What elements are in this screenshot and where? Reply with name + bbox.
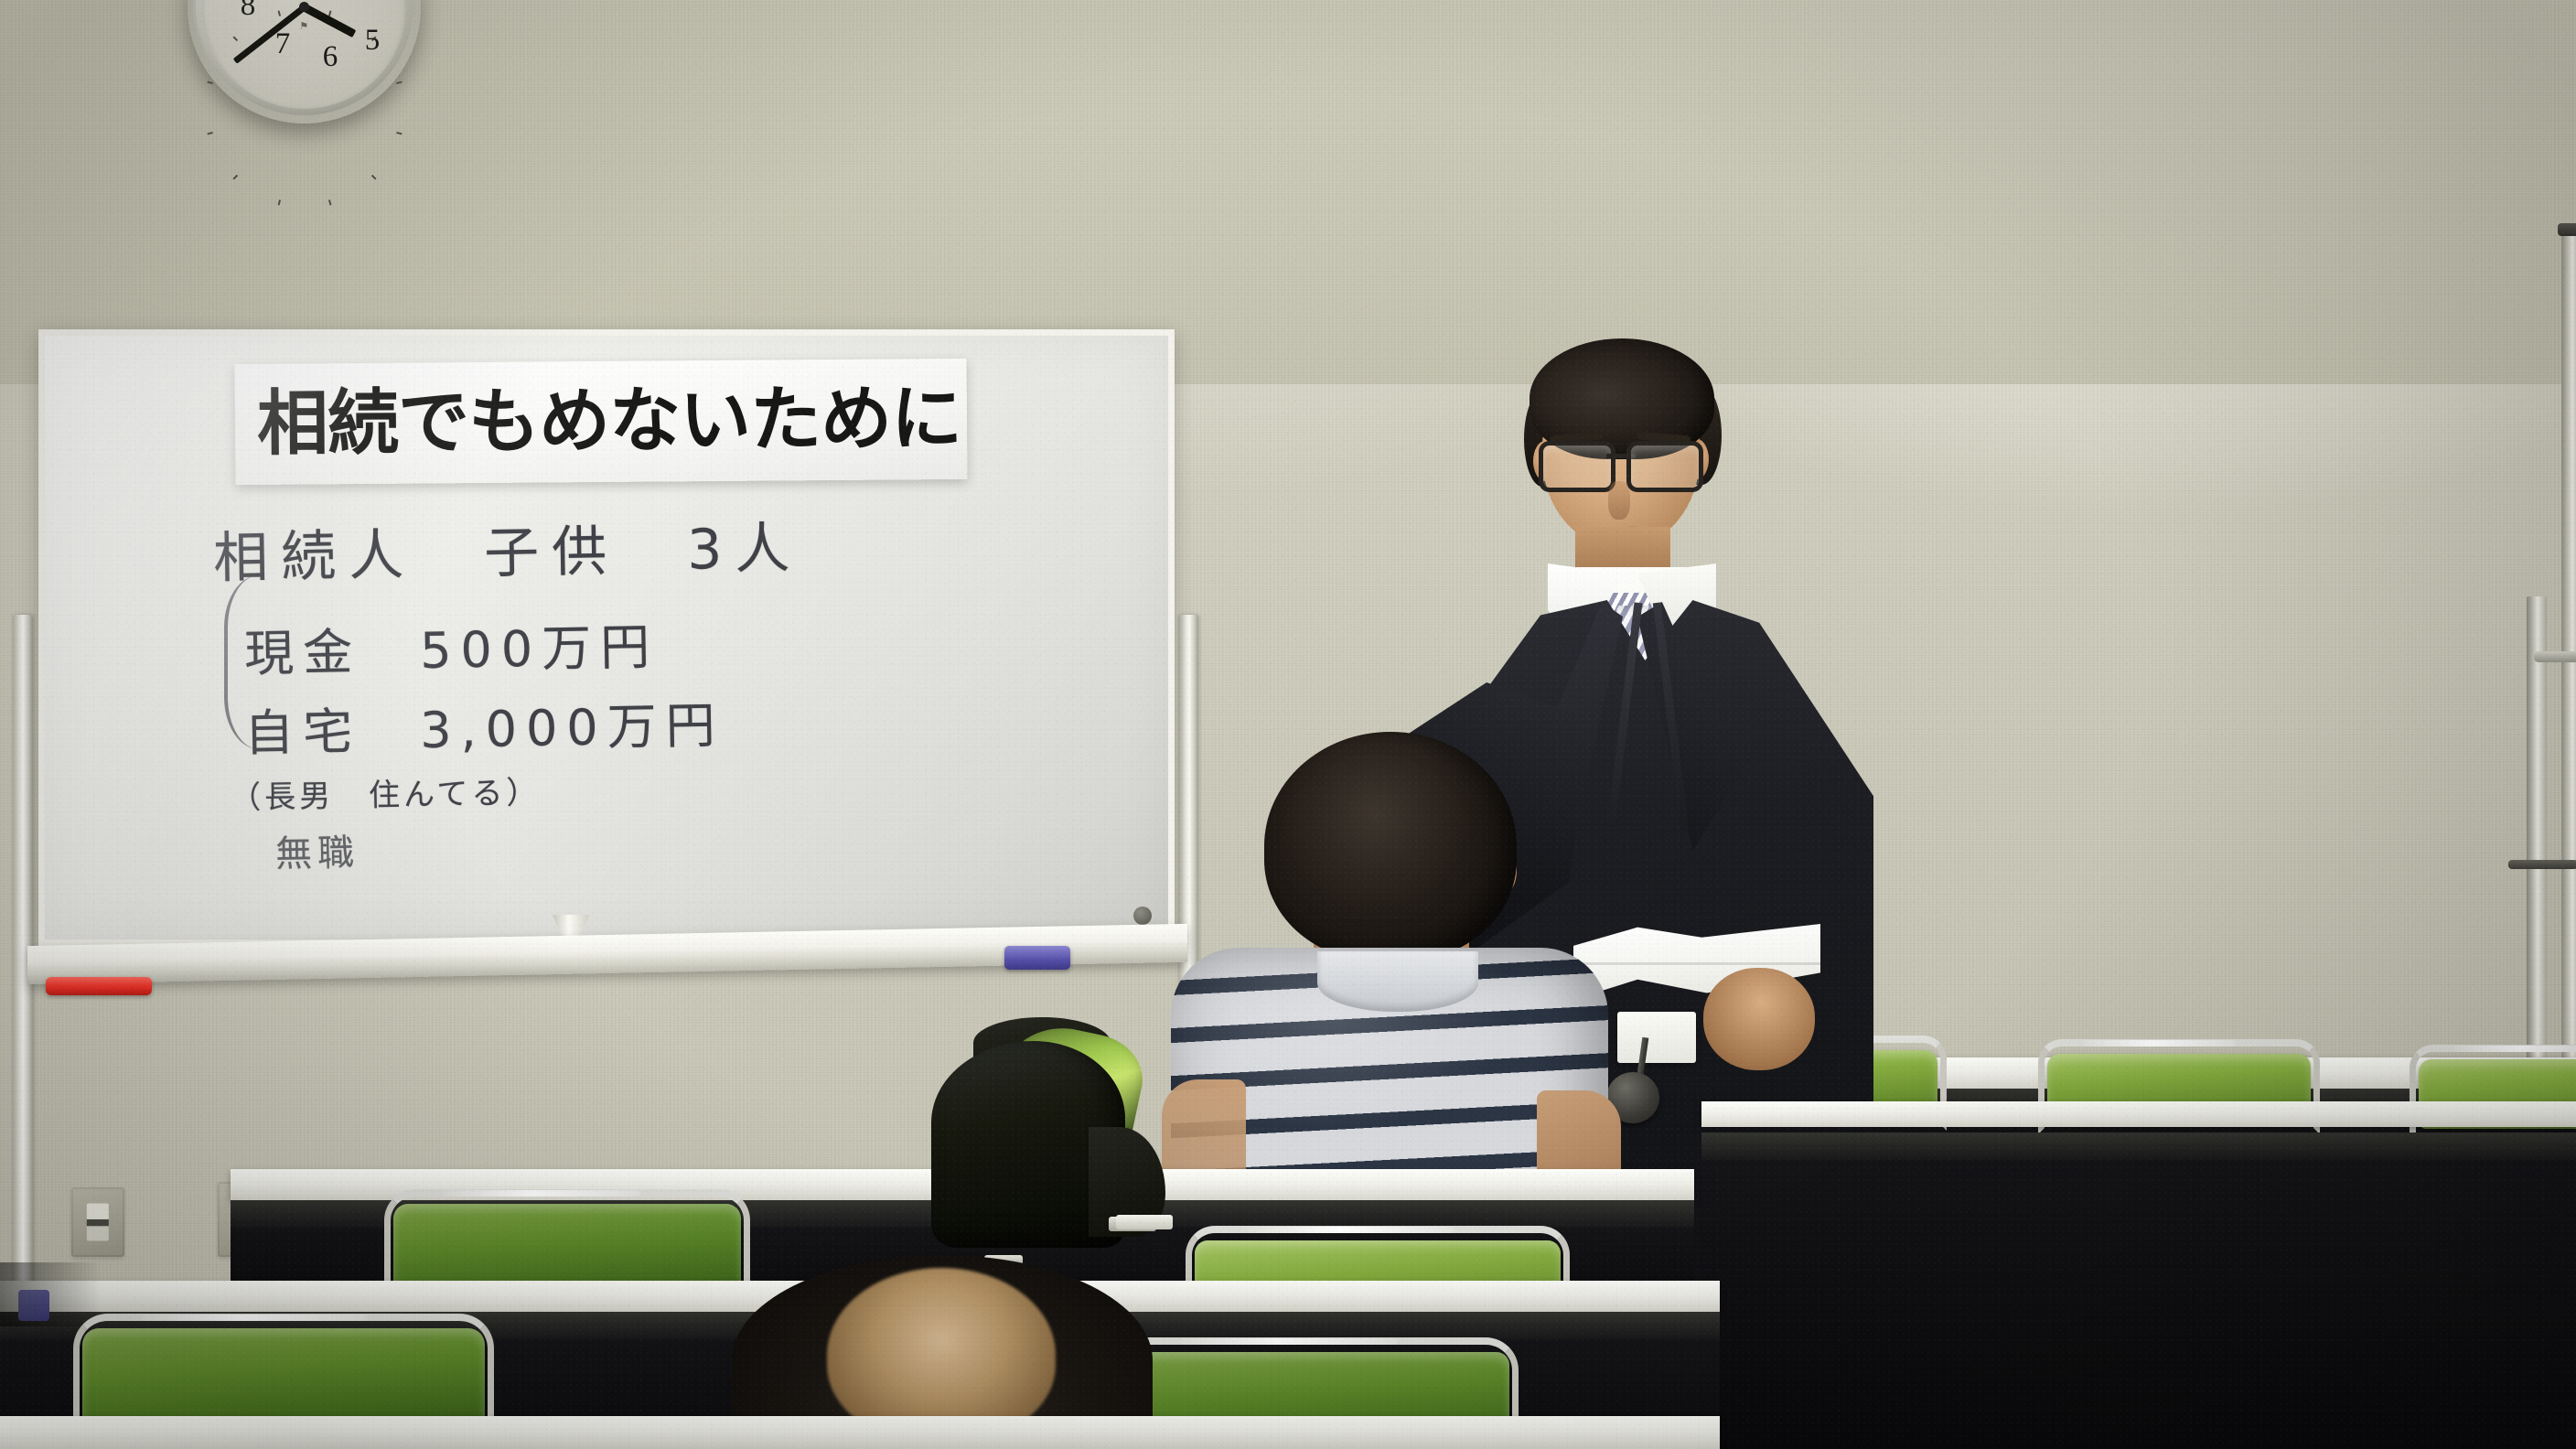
marker-red[interactable] [46, 977, 152, 995]
clock-numeral-6: 6 [315, 41, 346, 72]
whiteboard-title-text: 相続でもめないために [235, 383, 962, 460]
table-top [0, 1416, 1720, 1449]
presenter-hand-right [1703, 968, 1815, 1070]
clock-numeral-5: 5 [357, 25, 388, 56]
handwriting-line-4: （長男 住んてる） [230, 757, 1129, 817]
screen-stand-post-outer [2561, 234, 2576, 1176]
chair-frame-highlight [2083, 1040, 2235, 1046]
handwriting-line-3: 自宅 3,000万円 [243, 678, 1128, 766]
handwriting-line-1: 相続人 子供 3人 [212, 498, 1128, 593]
clock-brand-mark: ⚑ [299, 23, 308, 30]
attendee-hair [1264, 732, 1517, 961]
handwriting-line-5: 無職 [275, 810, 1129, 877]
chair[interactable] [2410, 1045, 2576, 1145]
screen-stand-cap [2558, 223, 2576, 236]
clock-center-pin [299, 2, 309, 12]
attendee-collar [1317, 951, 1478, 1012]
screen-stand-arm-upper [2534, 651, 2576, 662]
chair-frame-highlight [1247, 1227, 1454, 1233]
glasses-lens-right [1626, 441, 1703, 492]
clock-numeral-8: 8 [232, 0, 263, 21]
table-top [1701, 1101, 2576, 1127]
clock-hour-hand [302, 4, 356, 38]
chair-frame-highlight [1180, 1338, 1398, 1345]
photo-scene: 9 8 7 6 5 3 ⚑ 相続でもめないために 相続人 子供 3人 現金 50… [0, 0, 2576, 1449]
whiteboard-knob [1133, 907, 1152, 925]
chair-frame-highlight [141, 1315, 368, 1321]
table-edge [1701, 1132, 2576, 1160]
clock-brand-glyph: ⚑ [299, 23, 308, 30]
glasses-icon [1539, 441, 1703, 485]
wall-outlet [71, 1187, 124, 1257]
chair-frame-highlight [443, 1190, 640, 1197]
chair-frame-highlight [2453, 1046, 2576, 1052]
whiteboard[interactable]: 相続でもめないために 相続人 子供 3人 現金 500万円 自宅 3,000万円… [38, 329, 1175, 946]
handwriting-brace [224, 575, 259, 749]
marker-purple[interactable] [1004, 946, 1070, 970]
glasses-lens-left [1539, 441, 1615, 492]
screen-stand-arm-lower [2508, 860, 2576, 869]
whiteboard-handwriting: 相続人 子供 3人 現金 500万円 自宅 3,000万円 （長男 住んてる） … [213, 506, 1128, 877]
whiteboard-title-banner: 相続でもめないために [234, 359, 967, 485]
clock-face: 9 8 7 6 5 3 ⚑ [202, 0, 406, 109]
backpack[interactable] [915, 1017, 1160, 1248]
handwriting-line-2: 現金 500万円 [243, 598, 1128, 686]
desk-item-white [1116, 1215, 1173, 1229]
presenter-nose [1608, 481, 1630, 520]
table-front-panel [1701, 1160, 2576, 1449]
